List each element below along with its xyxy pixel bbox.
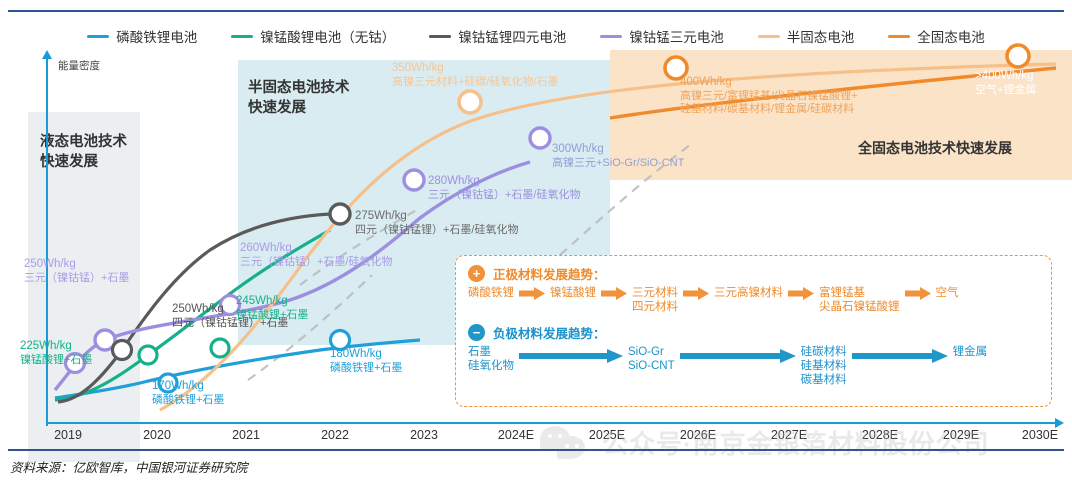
xtick-0: 2019 xyxy=(54,428,82,442)
legend-item-lfp: 磷酸铁锂电池 xyxy=(87,26,197,46)
cathode-header: + 正极材料发展趋势： xyxy=(468,264,1051,283)
marker-225 xyxy=(139,346,157,364)
label-400-sub2: 硅基材料/碳基材料/锂金属/硅碳材料 xyxy=(680,103,858,117)
legend-swatch-ternary xyxy=(600,35,622,38)
cathode-step-5-line2: 尖晶石镍锰酸锂 xyxy=(819,300,900,314)
label-170-sub: 磷酸铁锂+石墨 xyxy=(152,394,224,408)
cathode-step-4: 三元高镍材料 xyxy=(714,286,783,300)
marker-350 xyxy=(459,91,481,113)
label-275-value: 275Wh/kg xyxy=(355,210,518,224)
cathode-step-5-line1: 富锂锰基 xyxy=(819,286,900,300)
label-400plus: >400Wh/kg 空气+锂金属 xyxy=(975,70,1036,97)
legend-swatch-quaternary xyxy=(429,35,451,38)
label-400-sub1: 高镍三元/富锂锰基/尖晶石镍锰酸锂+ xyxy=(680,90,858,104)
xtick-8: 2027E xyxy=(771,428,807,442)
legend-item-semisolid: 半固态电池 xyxy=(758,26,855,46)
anode-step-1: 石墨 硅氧化物 xyxy=(468,345,514,373)
xtick-7: 2026E xyxy=(680,428,716,442)
anode-flow: 石墨 硅氧化物 SiO-Gr SiO-CNT 硅碳材料 硅基材料 碳基材料 锂金… xyxy=(468,345,1051,387)
label-300-value: 300Wh/kg xyxy=(552,143,684,157)
anode-step-3: 硅碳材料 硅基材料 碳基材料 xyxy=(801,345,847,387)
anode-step-4: 锂金属 xyxy=(953,345,988,359)
chart-root: 磷酸铁锂电池 镍锰酸锂电池（无钴） 镍钴锰锂四元电池 镍钴锰三元电池 半固态电池… xyxy=(0,0,1072,484)
plot-area: 液态电池技术 快速发展 半固态电池技术 快速发展 全固态电池技术快速发展 能量密… xyxy=(0,50,1072,425)
material-trend-box: + 正极材料发展趋势： 磷酸铁锂 镍锰酸锂 三元材料 四元材料 三元高镍材料 富… xyxy=(455,255,1052,407)
marker-275 xyxy=(330,204,350,224)
arrow-right-icon xyxy=(788,287,814,300)
label-400plus-value: >400Wh/kg xyxy=(975,70,1036,84)
legend-swatch-lnmo xyxy=(231,35,253,38)
arrow-right-icon xyxy=(519,287,545,300)
legend-label-solid: 全固态电池 xyxy=(917,26,985,46)
cathode-step-3-line2: 四元材料 xyxy=(632,300,678,314)
label-260: 260Wh/kg 三元（镍钴锰）+石墨/硅氧化物 xyxy=(240,242,392,269)
label-250-ternary: 250Wh/kg 三元（镍钴锰）+石墨 xyxy=(24,258,129,285)
marker-280 xyxy=(404,170,424,190)
marker-180 xyxy=(331,331,350,350)
legend-item-ternary: 镍钴锰三元电池 xyxy=(600,26,724,46)
label-250-ternary-value: 250Wh/kg xyxy=(24,258,129,272)
xtick-5: 2024E xyxy=(498,428,534,442)
x-axis-ticks: 2019 2020 2021 2022 2023 2024E 2025E 202… xyxy=(0,428,1072,450)
legend-item-lnmo: 镍锰酸锂电池（无钴） xyxy=(231,26,395,46)
marker-250-quaternary xyxy=(113,341,132,360)
label-260-value: 260Wh/kg xyxy=(240,242,392,256)
top-divider xyxy=(8,10,1064,12)
footer-divider xyxy=(8,449,1064,451)
legend-swatch-lfp xyxy=(87,35,109,38)
arrow-right-icon xyxy=(601,287,627,300)
anode-step-1-line2: 硅氧化物 xyxy=(468,359,514,373)
label-260-sub: 三元（镍钴锰）+石墨/硅氧化物 xyxy=(240,256,392,270)
xtick-9: 2028E xyxy=(862,428,898,442)
chart-legend: 磷酸铁锂电池 镍锰酸锂电池（无钴） 镍钴锰锂四元电池 镍钴锰三元电池 半固态电池… xyxy=(0,24,1072,48)
xtick-3: 2022 xyxy=(321,428,349,442)
label-245: 245Wh/kg 镍锰酸锂+石墨 xyxy=(236,295,308,322)
legend-item-quaternary: 镍钴锰锂四元电池 xyxy=(429,26,566,46)
arrow-right-icon xyxy=(683,287,709,300)
legend-label-semisolid: 半固态电池 xyxy=(787,26,855,46)
label-300: 300Wh/kg 高镍三元+SiO-Gr/SiO-CNT xyxy=(552,143,684,170)
label-280: 280Wh/kg 三元（镍钴锰）+石墨/硅氧化物 xyxy=(428,175,580,202)
legend-swatch-solid xyxy=(888,35,910,38)
xtick-4: 2023 xyxy=(410,428,438,442)
anode-title: 负极材料发展趋势： xyxy=(493,323,606,342)
anode-step-2-line2: SiO-CNT xyxy=(628,359,675,373)
label-280-value: 280Wh/kg xyxy=(428,175,580,189)
label-350-value: 350Wh/kg xyxy=(392,62,559,76)
cathode-step-1: 磷酸铁锂 xyxy=(468,286,514,300)
xtick-11: 2030E xyxy=(1022,428,1058,442)
label-400: 400Wh/kg 高镍三元/富锂锰基/尖晶石镍锰酸锂+ 硅基材料/碳基材料/锂金… xyxy=(680,76,858,117)
label-275-sub: 四元（镍钴锰锂）+石墨/硅氧化物 xyxy=(355,224,518,238)
label-170-value: 170Wh/kg xyxy=(152,380,224,394)
legend-label-ternary: 镍钴锰三元电池 xyxy=(629,26,724,46)
cathode-title: 正极材料发展趋势： xyxy=(493,264,606,283)
cathode-flow: 磷酸铁锂 镍锰酸锂 三元材料 四元材料 三元高镍材料 富锂锰基 尖晶石镍锰酸锂 … xyxy=(468,286,1051,314)
xtick-1: 2020 xyxy=(143,428,171,442)
label-400plus-sub: 空气+锂金属 xyxy=(975,84,1036,98)
label-225-sub: 镍锰酸锂+石墨 xyxy=(20,354,92,368)
legend-label-lnmo: 镍锰酸锂电池（无钴） xyxy=(260,26,395,46)
label-225-value: 225Wh/kg xyxy=(20,340,92,354)
cathode-step-3-line1: 三元材料 xyxy=(632,286,678,300)
label-180-sub: 磷酸铁锂+石墨 xyxy=(330,362,402,376)
arrow-right-icon xyxy=(852,349,948,363)
label-400-value: 400Wh/kg xyxy=(680,76,858,90)
xtick-2: 2021 xyxy=(232,428,260,442)
xtick-10: 2029E xyxy=(943,428,979,442)
xtick-6: 2025E xyxy=(589,428,625,442)
minus-icon: − xyxy=(468,324,485,341)
marker-400plus xyxy=(1007,45,1029,67)
label-275: 275Wh/kg 四元（镍钴锰锂）+石墨/硅氧化物 xyxy=(355,210,518,237)
cathode-step-6: 空气 xyxy=(936,286,959,300)
anode-step-3-line2: 硅基材料 xyxy=(801,359,847,373)
cathode-step-3: 三元材料 四元材料 xyxy=(632,286,678,314)
legend-label-lfp: 磷酸铁锂电池 xyxy=(116,26,197,46)
label-180: 180Wh/kg 磷酸铁锂+石墨 xyxy=(330,348,402,375)
source-note: 资料来源：亿欧智库，中国银河证券研究院 xyxy=(10,457,248,476)
marker-300 xyxy=(530,128,550,148)
plus-icon: + xyxy=(468,265,485,282)
anode-header: − 负极材料发展趋势： xyxy=(468,323,1051,342)
label-245-value: 245Wh/kg xyxy=(236,295,308,309)
label-245-sub: 镍锰酸锂+石墨 xyxy=(236,309,308,323)
legend-label-quaternary: 镍钴锰锂四元电池 xyxy=(458,26,566,46)
label-350-sub: 高镍三元材料+硅碳/硅氧化物/石墨 xyxy=(392,76,559,90)
marker-245 xyxy=(211,339,229,357)
anode-step-2-line1: SiO-Gr xyxy=(628,345,675,359)
label-180-value: 180Wh/kg xyxy=(330,348,402,362)
legend-item-solid: 全固态电池 xyxy=(888,26,985,46)
anode-step-1-line1: 石墨 xyxy=(468,345,514,359)
label-280-sub: 三元（镍钴锰）+石墨/硅氧化物 xyxy=(428,189,580,203)
cathode-step-5: 富锂锰基 尖晶石镍锰酸锂 xyxy=(819,286,900,314)
legend-swatch-semisolid xyxy=(758,35,780,38)
label-170: 170Wh/kg 磷酸铁锂+石墨 xyxy=(152,380,224,407)
label-250-ternary-sub: 三元（镍钴锰）+石墨 xyxy=(24,272,129,286)
anode-step-3-line1: 硅碳材料 xyxy=(801,345,847,359)
arrow-right-icon xyxy=(680,349,796,363)
label-225: 225Wh/kg 镍锰酸锂+石墨 xyxy=(20,340,92,367)
arrow-right-icon xyxy=(905,287,931,300)
label-350: 350Wh/kg 高镍三元材料+硅碳/硅氧化物/石墨 xyxy=(392,62,559,89)
anode-step-3-line3: 碳基材料 xyxy=(801,373,847,387)
cathode-step-2: 镍锰酸锂 xyxy=(550,286,596,300)
anode-step-2: SiO-Gr SiO-CNT xyxy=(628,345,675,373)
arrow-right-icon xyxy=(519,349,623,363)
label-300-sub: 高镍三元+SiO-Gr/SiO-CNT xyxy=(552,157,684,171)
